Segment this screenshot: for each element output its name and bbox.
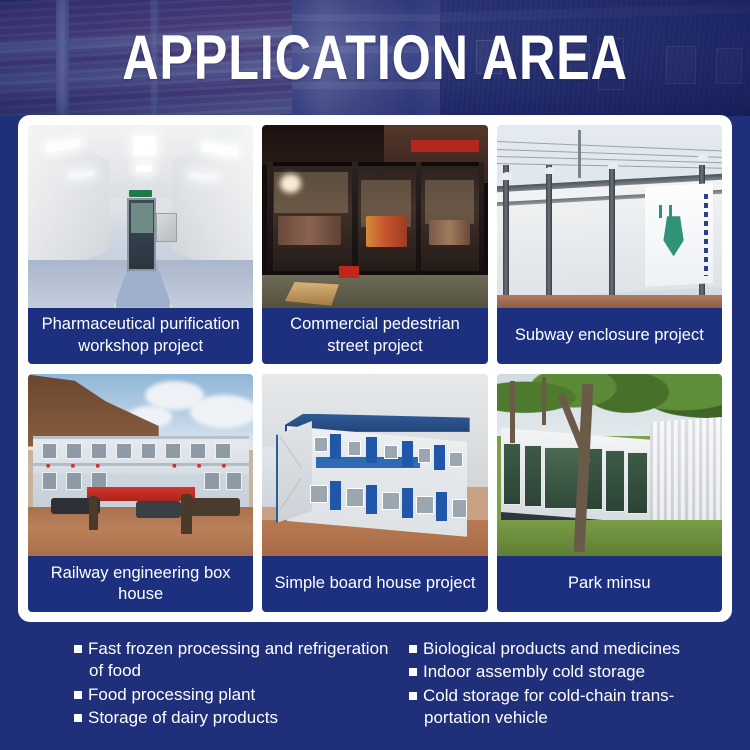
tile-caption: Railway engineering box house bbox=[28, 556, 253, 612]
square-bullet-icon bbox=[409, 692, 417, 700]
application-tile[interactable]: Commercial pedestrian street project bbox=[262, 125, 487, 364]
prefab-board-house-image bbox=[262, 374, 487, 557]
square-bullet-icon bbox=[74, 714, 82, 722]
application-tile[interactable]: Park minsu bbox=[497, 374, 722, 613]
bullet-column-left: Fast frozen processing and refrigeration… bbox=[74, 638, 391, 750]
bullet-text: Biological products and medicines bbox=[423, 639, 680, 658]
page-header: APPLICATION AREA bbox=[0, 0, 750, 116]
tile-caption: Commercial pedestrian street project bbox=[262, 308, 487, 364]
railway-box-house-camp-image: ■ ■ ■ ■ ■ ■ bbox=[28, 374, 253, 557]
tile-caption: Simple board house project bbox=[262, 556, 487, 612]
bullet-item: Biological products and medicines bbox=[409, 638, 726, 660]
application-tile[interactable]: Subway enclosure project bbox=[497, 125, 722, 364]
subway-enclosure-panels-image bbox=[497, 125, 722, 308]
bullet-text: Storage of dairy products bbox=[88, 708, 278, 727]
bullet-column-right: Biological products and medicines Indoor… bbox=[391, 638, 726, 750]
application-bullet-lists: Fast frozen processing and refrigeration… bbox=[0, 630, 750, 750]
park-container-minsu-image bbox=[497, 374, 722, 557]
tile-caption: Pharmaceutical purification workshop pro… bbox=[28, 308, 253, 364]
square-bullet-icon bbox=[74, 691, 82, 699]
bullet-text: Indoor assembly cold storage bbox=[423, 662, 645, 681]
application-tile-grid: Pharmaceutical purification workshop pro… bbox=[28, 125, 722, 612]
page-title: APPLICATION AREA bbox=[75, 0, 675, 116]
square-bullet-icon bbox=[74, 645, 82, 653]
bullet-item: Fast frozen processing and refrigeration… bbox=[74, 638, 391, 683]
bullet-item: Food processing plant bbox=[74, 684, 391, 706]
bullet-item: Cold storage for cold-chain trans-portat… bbox=[409, 685, 726, 730]
pharmaceutical-cleanroom-corridor-image bbox=[28, 125, 253, 308]
tile-caption: Subway enclosure project bbox=[497, 308, 722, 364]
bullet-text: Cold storage for cold-chain trans-portat… bbox=[423, 686, 674, 727]
square-bullet-icon bbox=[409, 645, 417, 653]
bullet-item: Storage of dairy products bbox=[74, 707, 391, 729]
tile-caption: Park minsu bbox=[497, 556, 722, 612]
bullet-text: Fast frozen processing and refrigeration… bbox=[88, 639, 389, 680]
application-tile[interactable]: Pharmaceutical purification workshop pro… bbox=[28, 125, 253, 364]
application-area-card: Pharmaceutical purification workshop pro… bbox=[18, 115, 732, 622]
square-bullet-icon bbox=[409, 668, 417, 676]
bullet-text: Food processing plant bbox=[88, 685, 255, 704]
application-tile[interactable]: ■ ■ ■ ■ ■ ■ Railway engineering box hous… bbox=[28, 374, 253, 613]
application-tile[interactable]: Simple board house project bbox=[262, 374, 487, 613]
commercial-shopfront-night-image bbox=[262, 125, 487, 308]
bullet-item: Indoor assembly cold storage bbox=[409, 661, 726, 683]
